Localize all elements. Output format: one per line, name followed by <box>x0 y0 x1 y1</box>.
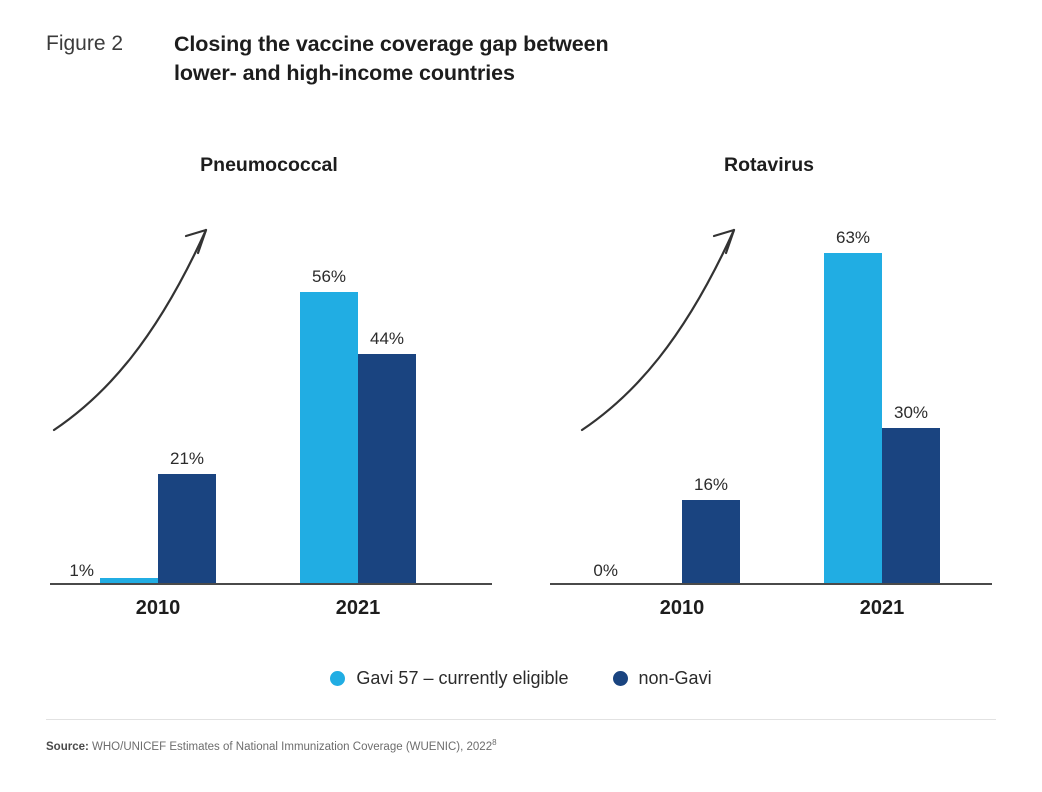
bar-label-gavi-2010: 0% <box>593 561 618 581</box>
circle-icon <box>613 671 628 686</box>
legend-item-non-gavi: non-Gavi <box>613 668 712 689</box>
x-axis-label-2021: 2021 <box>860 597 905 620</box>
bar-non-gavi-2010: 16% <box>682 500 740 583</box>
chart-panel-pneumococcal: Pneumococcal 1% 21% 2010 <box>46 110 506 630</box>
bar-group-2010: 0% 16% 2010 <box>624 153 740 583</box>
figure-title-line-1: Closing the vaccine coverage gap between <box>174 30 609 59</box>
source-prefix: Source: <box>46 741 89 753</box>
x-axis-line-pneumococcal <box>50 583 492 585</box>
x-axis-line-rotavirus <box>550 583 992 585</box>
source-note: Source: WHO/UNICEF Estimates of National… <box>46 738 497 753</box>
bar-label-non-gavi-2010: 16% <box>694 475 728 495</box>
plot-area-rotavirus: 0% 16% 2010 63% 30% 20 <box>546 110 992 585</box>
legend-item-gavi: Gavi 57 – currently eligible <box>330 668 568 689</box>
legend-label-non-gavi: non-Gavi <box>639 668 712 689</box>
x-axis-label-2021: 2021 <box>336 597 381 620</box>
bar-non-gavi-2021: 44% <box>358 354 416 583</box>
bar-label-non-gavi-2010: 21% <box>170 449 204 469</box>
bar-group-2021: 63% 30% 2021 <box>824 153 940 583</box>
legend-label-gavi: Gavi 57 – currently eligible <box>356 668 568 689</box>
source-divider <box>46 719 996 720</box>
source-footnote-marker: 8 <box>492 738 496 747</box>
chart-panel-rotavirus: Rotavirus 0% 16% 2010 <box>546 110 1006 630</box>
bar-gavi-2021: 63% <box>824 253 882 583</box>
figure-title: Closing the vaccine coverage gap between… <box>174 30 609 88</box>
figure-title-line-2: lower- and high-income countries <box>174 59 609 88</box>
x-axis-label-2010: 2010 <box>660 597 705 620</box>
bar-label-gavi-2021: 63% <box>836 228 870 248</box>
bar-label-non-gavi-2021: 30% <box>894 403 928 423</box>
bar-label-gavi-2021: 56% <box>312 267 346 287</box>
bar-non-gavi-2021: 30% <box>882 428 940 583</box>
figure-header: Figure 2 Closing the vaccine coverage ga… <box>46 30 746 88</box>
bar-group-2010: 1% 21% 2010 <box>100 153 216 583</box>
chart-legend: Gavi 57 – currently eligible non-Gavi <box>0 668 1042 689</box>
x-axis-label-2010: 2010 <box>136 597 181 620</box>
circle-icon <box>330 671 345 686</box>
source-text: WHO/UNICEF Estimates of National Immuniz… <box>89 741 492 753</box>
figure-number: Figure 2 <box>46 30 174 57</box>
plot-area-pneumococcal: 1% 21% 2010 56% 44% 20 <box>46 110 492 585</box>
bar-label-non-gavi-2021: 44% <box>370 329 404 349</box>
bar-group-2021: 56% 44% 2021 <box>300 153 416 583</box>
bar-label-gavi-2010: 1% <box>69 561 94 581</box>
bar-gavi-2021: 56% <box>300 292 358 583</box>
figure-page: Figure 2 Closing the vaccine coverage ga… <box>0 0 1042 792</box>
bar-non-gavi-2010: 21% <box>158 474 216 583</box>
